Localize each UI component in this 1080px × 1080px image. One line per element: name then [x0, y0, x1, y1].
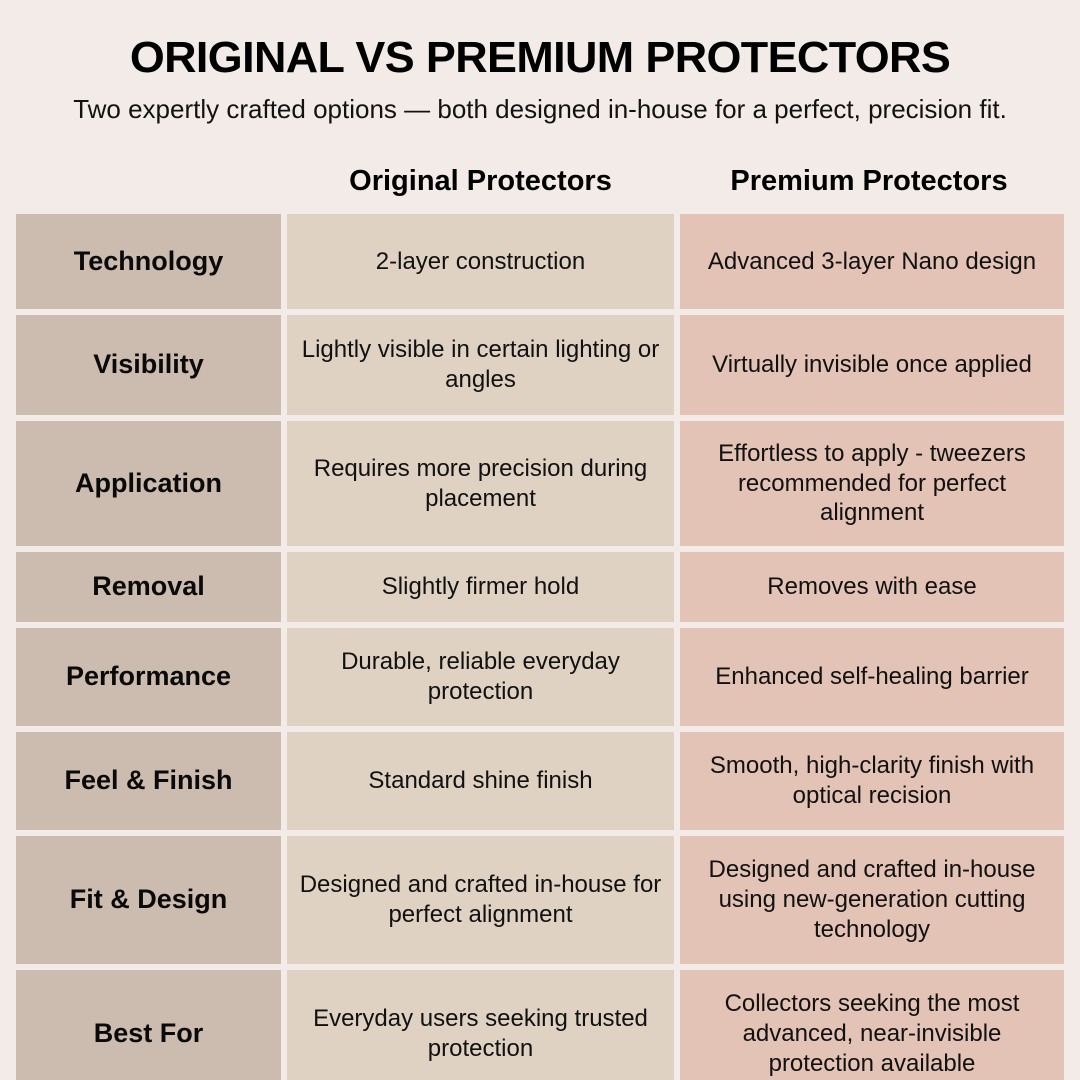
table-row: Feel & FinishStandard shine finishSmooth… — [16, 732, 1064, 830]
table-cell-original: Everyday users seeking trusted protectio… — [287, 970, 674, 1080]
table-cell-original: Standard shine finish — [287, 732, 674, 830]
table-cell-premium: Virtually invisible once applied — [680, 315, 1064, 415]
table-cell-feature-label: Best For — [16, 970, 281, 1080]
table-cell-feature-label: Feel & Finish — [16, 732, 281, 830]
table-cell-original: Requires more precision during placement — [287, 421, 674, 546]
table-cell-premium: Smooth, high-clarity finish with optical… — [680, 732, 1064, 830]
table-row: VisibilityLightly visible in certain lig… — [16, 315, 1064, 415]
column-header-premium: Premium Protectors — [674, 166, 1064, 198]
table-cell-feature-label: Fit & Design — [16, 836, 281, 964]
comparison-table: Technology2-layer constructionAdvanced 3… — [16, 214, 1064, 1080]
table-cell-premium: Designed and crafted in-house using new-… — [680, 836, 1064, 964]
table-row: Best ForEveryday users seeking trusted p… — [16, 970, 1064, 1080]
column-header-spacer — [16, 166, 287, 198]
table-cell-premium: Collectors seeking the most advanced, ne… — [680, 970, 1064, 1080]
table-row: ApplicationRequires more precision durin… — [16, 421, 1064, 546]
table-cell-original: Lightly visible in certain lighting or a… — [287, 315, 674, 415]
column-header-premium-label: Premium Protectors — [730, 165, 1007, 197]
table-row: Fit & DesignDesigned and crafted in-hous… — [16, 836, 1064, 964]
page-title: ORIGINAL VS PREMIUM PROTECTORS — [18, 0, 1062, 80]
table-cell-feature-label: Application — [16, 421, 281, 546]
table-cell-original: 2-layer construction — [287, 214, 674, 309]
table-cell-feature-label: Performance — [16, 628, 281, 726]
table-cell-premium: Advanced 3-layer Nano design — [680, 214, 1064, 309]
table-cell-original: Slightly firmer hold — [287, 552, 674, 622]
column-headers: Original Protectors Premium Protectors — [16, 166, 1064, 198]
table-row: PerformanceDurable, reliable everyday pr… — [16, 628, 1064, 726]
table-cell-feature-label: Visibility — [16, 315, 281, 415]
table-cell-original: Designed and crafted in-house for perfec… — [287, 836, 674, 964]
page-subtitle: Two expertly crafted options — both desi… — [65, 94, 1015, 126]
column-header-original: Original Protectors — [287, 166, 674, 198]
table-row: RemovalSlightly firmer holdRemoves with … — [16, 552, 1064, 622]
column-header-original-label: Original Protectors — [349, 165, 612, 197]
header: ORIGINAL VS PREMIUM PROTECTORS Two exper… — [0, 0, 1080, 126]
table-cell-premium: Effortless to apply - tweezers recommend… — [680, 421, 1064, 546]
table-cell-premium: Enhanced self-healing barrier — [680, 628, 1064, 726]
table-cell-original: Durable, reliable everyday protection — [287, 628, 674, 726]
table-cell-premium: Removes with ease — [680, 552, 1064, 622]
table-cell-feature-label: Technology — [16, 214, 281, 309]
comparison-infographic: ORIGINAL VS PREMIUM PROTECTORS Two exper… — [0, 0, 1080, 1080]
table-cell-feature-label: Removal — [16, 552, 281, 622]
table-row: Technology2-layer constructionAdvanced 3… — [16, 214, 1064, 309]
